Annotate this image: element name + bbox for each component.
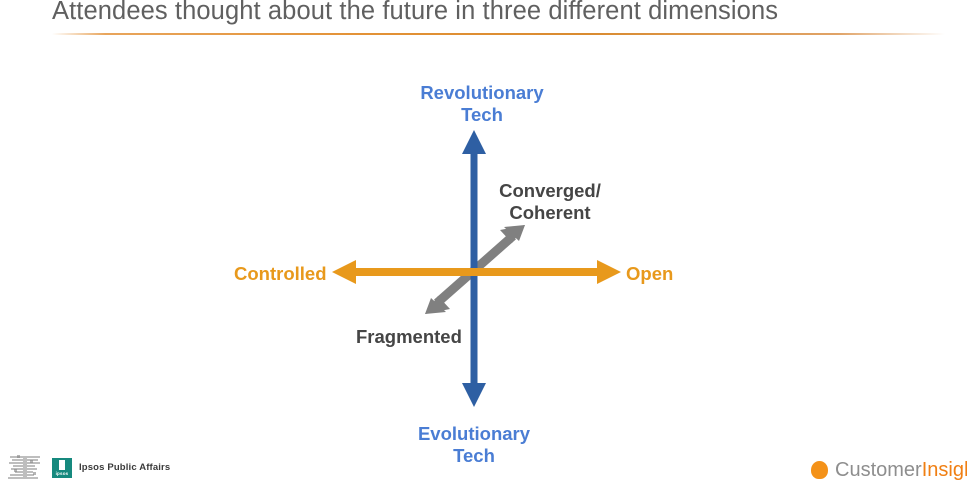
label-open: Open bbox=[626, 263, 673, 285]
label-revolutionary-tech: Revolutionary Tech bbox=[394, 82, 570, 126]
label-evolutionary-line1: Evolutionary bbox=[386, 423, 562, 445]
label-controlled: Controlled bbox=[234, 263, 327, 285]
customer-insights-dot-icon bbox=[811, 461, 828, 479]
three-dimension-axes-diagram bbox=[0, 0, 967, 445]
ipsos-public-affairs-label: Ipsos Public Affairs bbox=[79, 462, 170, 473]
customer-insights-wordmark: CustomerInsights bbox=[835, 459, 967, 481]
axes-svg bbox=[0, 0, 967, 445]
label-evolutionary-line2: Tech bbox=[386, 445, 562, 467]
label-converged-line2: Coherent bbox=[488, 202, 612, 224]
label-revolutionary-line1: Revolutionary bbox=[394, 82, 570, 104]
label-converged-line1: Converged/ bbox=[488, 180, 612, 202]
ipsos-logo-wordmark: ipsos bbox=[56, 471, 69, 476]
label-evolutionary-tech: Evolutionary Tech bbox=[386, 423, 562, 467]
ipsos-logo-icon: ipsos bbox=[52, 458, 72, 478]
slide-canvas: Attendees thought about the future in th… bbox=[0, 0, 967, 483]
footer-customer-insights-branding: CustomerInsights bbox=[811, 459, 967, 481]
footer-ipsos-branding: ipsos Ipsos Public Affairs bbox=[6, 452, 170, 483]
ipsos-logo-bar bbox=[59, 460, 65, 470]
customer-insights-word-secondary: Insights bbox=[922, 459, 967, 481]
label-fragmented: Fragmented bbox=[356, 326, 462, 348]
ipsos-tree-watermark-icon bbox=[6, 453, 48, 482]
customer-insights-word-primary: Customer bbox=[835, 459, 922, 481]
label-revolutionary-line2: Tech bbox=[394, 104, 570, 126]
label-converged-coherent: Converged/ Coherent bbox=[488, 180, 612, 224]
